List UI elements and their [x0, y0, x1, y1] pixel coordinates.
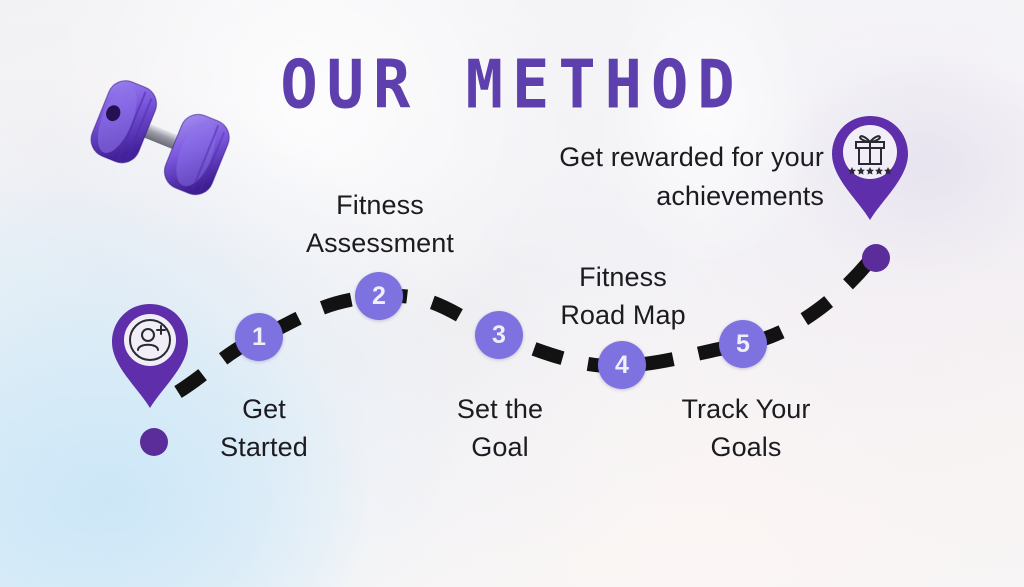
- step-circle-3[interactable]: 3: [475, 311, 523, 359]
- reward-caption: Get rewarded for your achievements: [486, 138, 824, 216]
- reward-pin-dot: [862, 244, 890, 272]
- start-pin-dot: [140, 428, 168, 456]
- reward-pin[interactable]: [828, 112, 912, 224]
- step-label-1: Get Started: [168, 390, 360, 467]
- step-circle-1[interactable]: 1: [235, 313, 283, 361]
- step-label-2: Fitness Assessment: [282, 186, 478, 263]
- journey-path: [0, 0, 1024, 587]
- step-label-5: Track Your Goals: [648, 390, 844, 467]
- step-circle-5[interactable]: 5: [719, 320, 767, 368]
- step-label-4: Fitness Road Map: [528, 258, 718, 335]
- step-label-3: Set the Goal: [404, 390, 596, 467]
- step-circle-2[interactable]: 2: [355, 272, 403, 320]
- step-circle-4[interactable]: 4: [598, 341, 646, 389]
